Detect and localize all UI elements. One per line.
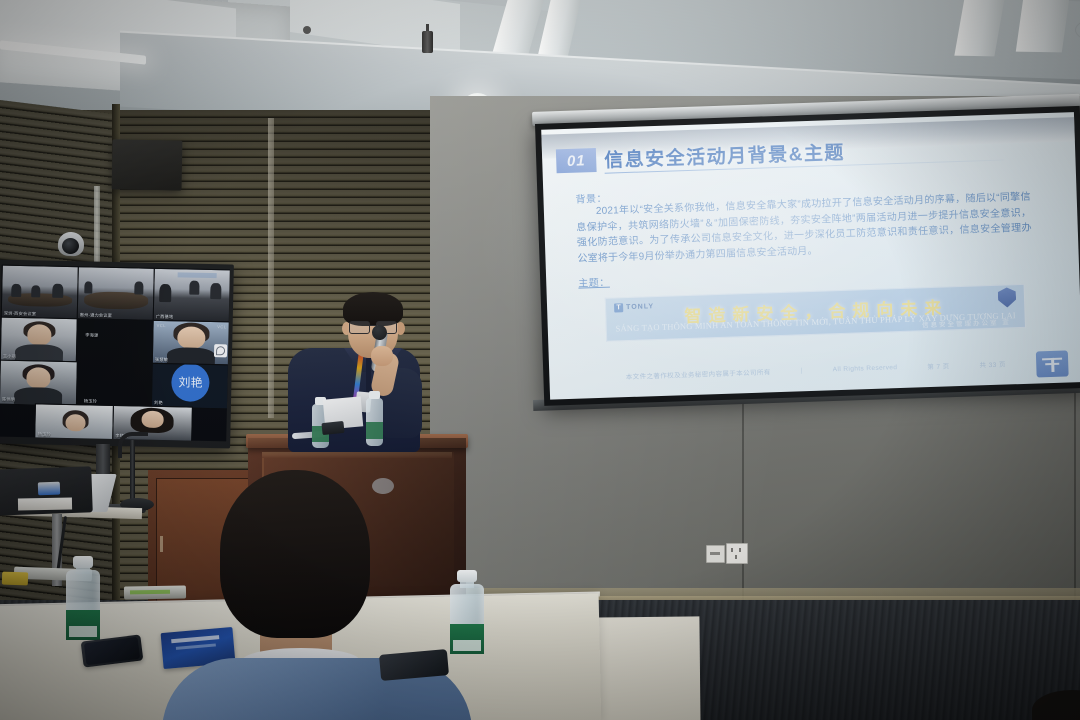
wall-socket-plate: [706, 545, 725, 563]
audience-head: [220, 470, 370, 638]
slide-footer: 本文件之著作权及业务秘密内容属于本公司所有 | All Rights Reser…: [549, 356, 1080, 384]
desk-accessory: [2, 572, 28, 586]
slide-theme-banner: T TONLY 智造新安全，合规向未来 SÁNG TẠO THÔNG MINH …: [605, 284, 1026, 342]
video-tile[interactable]: 王小丽: [0, 316, 79, 363]
video-tile[interactable]: VCL VCL 张慧敏: [152, 319, 230, 366]
footer-page-current: 第 7 页: [927, 360, 950, 371]
participant-label: 陈伟明: [2, 396, 15, 402]
footer-page-total: 共 33 页: [979, 359, 1006, 370]
ceiling-rib: [1016, 0, 1070, 52]
presentation-slide[interactable]: 01 信息安全活动月背景&主题 背景： 2021年以“安全关系你我他，信息安全靠…: [541, 112, 1080, 400]
laptop-lid-sticker: [38, 482, 60, 496]
cabinet-handle[interactable]: [160, 536, 163, 552]
participant-label: 杨玉玲: [38, 431, 51, 437]
conference-room-photo: 01 信息安全活动月背景&主题 背景： 2021年以“安全关系你我他，信息安全靠…: [0, 0, 1080, 720]
video-watermark: VCL: [217, 324, 226, 329]
video-tile[interactable]: 深圳-西安会议室: [1, 265, 80, 320]
tonly-footer-logo-icon: [1036, 350, 1069, 377]
pin-participant-button[interactable]: [214, 344, 227, 357]
video-tile[interactable]: 惠州-通力会议室: [77, 266, 156, 321]
banner-brand-logo: T TONLY: [614, 302, 654, 312]
wall-mounted-speaker: [112, 139, 183, 190]
sprinkler-head-icon: [303, 26, 311, 34]
video-wall-television[interactable]: 深圳-西安会议室 惠州-通力会议室: [0, 260, 234, 449]
tv-screen[interactable]: 深圳-西安会议室 惠州-通力会议室: [0, 265, 230, 442]
video-tile[interactable]: 李海源 杨玉玲: [75, 318, 155, 408]
audience-member: [168, 470, 468, 720]
footer-rights: All Rights Reserved: [833, 364, 898, 373]
tonly-logo-icon: T: [614, 303, 623, 312]
participant-label: 李海源: [85, 333, 98, 339]
slide-body-paragraph: 2021年以“安全关系你我他，信息安全靠大家”成功拉开了信息安全活动月的序幕，随…: [576, 190, 1033, 267]
spotlight-fixture: [422, 31, 433, 53]
desk-papers: [18, 498, 72, 511]
video-watermark: VCL: [157, 322, 166, 327]
wall-power-socket: [726, 543, 748, 564]
camera-lens-icon: [62, 238, 79, 254]
speaker-mount-pole: [94, 186, 100, 270]
microphone-stand-pole: [130, 440, 135, 502]
slide-section-number: 01: [556, 148, 597, 173]
security-shield-icon: [998, 287, 1017, 308]
video-tile[interactable]: 陈伟明: [0, 359, 78, 406]
presenter-hand: [371, 346, 393, 366]
projection-screen[interactable]: 01 信息安全活动月背景&主题 背景： 2021年以“安全关系你我他，信息安全靠…: [535, 106, 1080, 406]
banner-org-credit: 信息安全管理办公室 宣: [922, 316, 1011, 329]
wall-panel-seam: [268, 118, 274, 418]
presenter-phone[interactable]: [321, 421, 344, 435]
footer-copyright: 本文件之著作权及业务秘密内容属于本公司所有: [626, 366, 771, 381]
power-strip-indicator: [130, 590, 170, 595]
video-tile[interactable]: 杨玉玲: [35, 403, 115, 441]
participant-video-off: 刘艳: [152, 363, 229, 408]
slide-theme-label: 主题：: [578, 274, 610, 290]
video-tile[interactable]: 刘艳 刘艳: [151, 362, 230, 409]
water-bottle: [66, 558, 100, 640]
footer-separator: |: [801, 367, 803, 374]
avatar: 刘艳: [171, 363, 210, 402]
video-conference-grid: 深圳-西安会议室 惠州-通力会议室: [0, 265, 230, 442]
podium-water-bottle: [366, 398, 383, 446]
banner-brand-name: TONLY: [626, 303, 654, 311]
video-tile[interactable]: 广西基地: [153, 268, 230, 323]
